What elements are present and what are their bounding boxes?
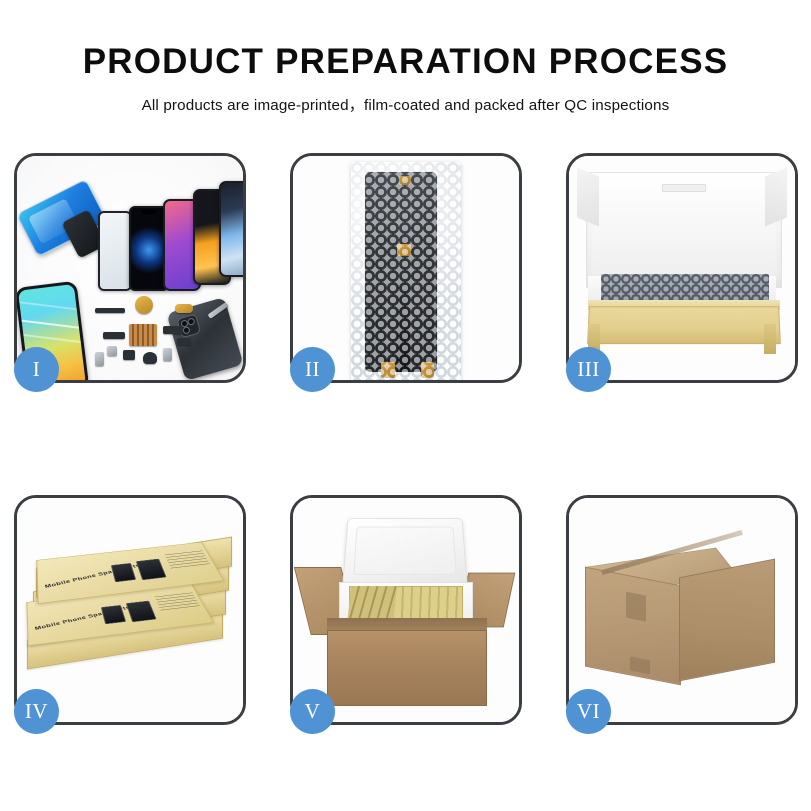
white-box-lid <box>586 172 782 288</box>
carton-side-face <box>679 559 775 682</box>
page-title: PRODUCT PREPARATION PROCESS <box>0 43 811 82</box>
foam-box-lid <box>342 518 468 585</box>
step-badge-6: VI <box>566 689 611 734</box>
header: PRODUCT PREPARATION PROCESS All products… <box>0 0 811 115</box>
carton-front-face <box>585 567 681 686</box>
step-6-image <box>569 498 795 722</box>
part-flex-strip <box>95 308 125 313</box>
step-panel-6: VI <box>566 495 798 725</box>
carton-body <box>327 630 487 706</box>
step-badge-3: III <box>566 347 611 392</box>
step-5-image <box>293 498 519 722</box>
part-earpiece <box>143 352 157 364</box>
step-badge-1: I <box>14 347 59 392</box>
part-flex-cable <box>103 332 125 339</box>
lid-flap-left <box>577 168 599 227</box>
top-connector-tab <box>399 176 411 185</box>
part-metal-bracket <box>107 346 117 356</box>
bubble-wrap-package <box>351 162 461 380</box>
carton-tape-mark-2 <box>630 656 650 674</box>
step-panel-1: I <box>14 153 246 383</box>
bottom-connector-right <box>421 362 434 378</box>
part-vibrator-motor <box>177 338 191 345</box>
carton-tape-mark-1 <box>626 592 646 622</box>
tray-corner-right <box>764 324 776 354</box>
part-screw-tray <box>129 324 157 346</box>
bottom-connector-left <box>381 362 395 378</box>
gold-tray-front <box>587 306 781 344</box>
step-2-image <box>293 156 519 380</box>
step-panel-3: III <box>566 153 798 383</box>
step-1-image <box>17 156 243 380</box>
box-screen-print-2 <box>136 559 167 581</box>
page-subtitle: All products are image-printed，film-coat… <box>0 93 811 115</box>
step-badge-2: II <box>290 347 335 392</box>
lid-tab <box>662 184 706 192</box>
lid-flap-right <box>765 168 787 227</box>
step-panel-5: V <box>290 495 522 725</box>
step-3-image <box>569 156 795 380</box>
process-steps-grid: I II <box>14 153 797 735</box>
glass-lens-panel <box>98 211 132 291</box>
part-flex-cable-2 <box>163 326 183 334</box>
silver-phone <box>219 181 243 277</box>
part-battery-connector <box>163 348 172 361</box>
part-ic-chip <box>123 350 135 360</box>
box-spec-lines-1 <box>165 551 210 569</box>
gold-box-stack: Mobile Phone Spare Parts Mobile Phone Sp… <box>23 512 237 712</box>
step-4-image: Mobile Phone Spare Parts Mobile Phone Sp… <box>17 498 243 722</box>
step-badge-4: IV <box>14 689 59 734</box>
step-panel-2: II <box>290 153 522 383</box>
box-screen-print-4 <box>126 601 157 623</box>
step-panel-4: Mobile Phone Spare Parts Mobile Phone Sp… <box>14 495 246 725</box>
box-spec-lines-2 <box>155 593 200 611</box>
part-speaker-coil <box>135 296 153 314</box>
product-preparation-infographic: PRODUCT PREPARATION PROCESS All products… <box>0 0 811 811</box>
mid-connector <box>397 244 411 256</box>
part-sim-tray <box>95 352 104 366</box>
part-gold-connector <box>175 304 193 313</box>
step-badge-5: V <box>290 689 335 734</box>
